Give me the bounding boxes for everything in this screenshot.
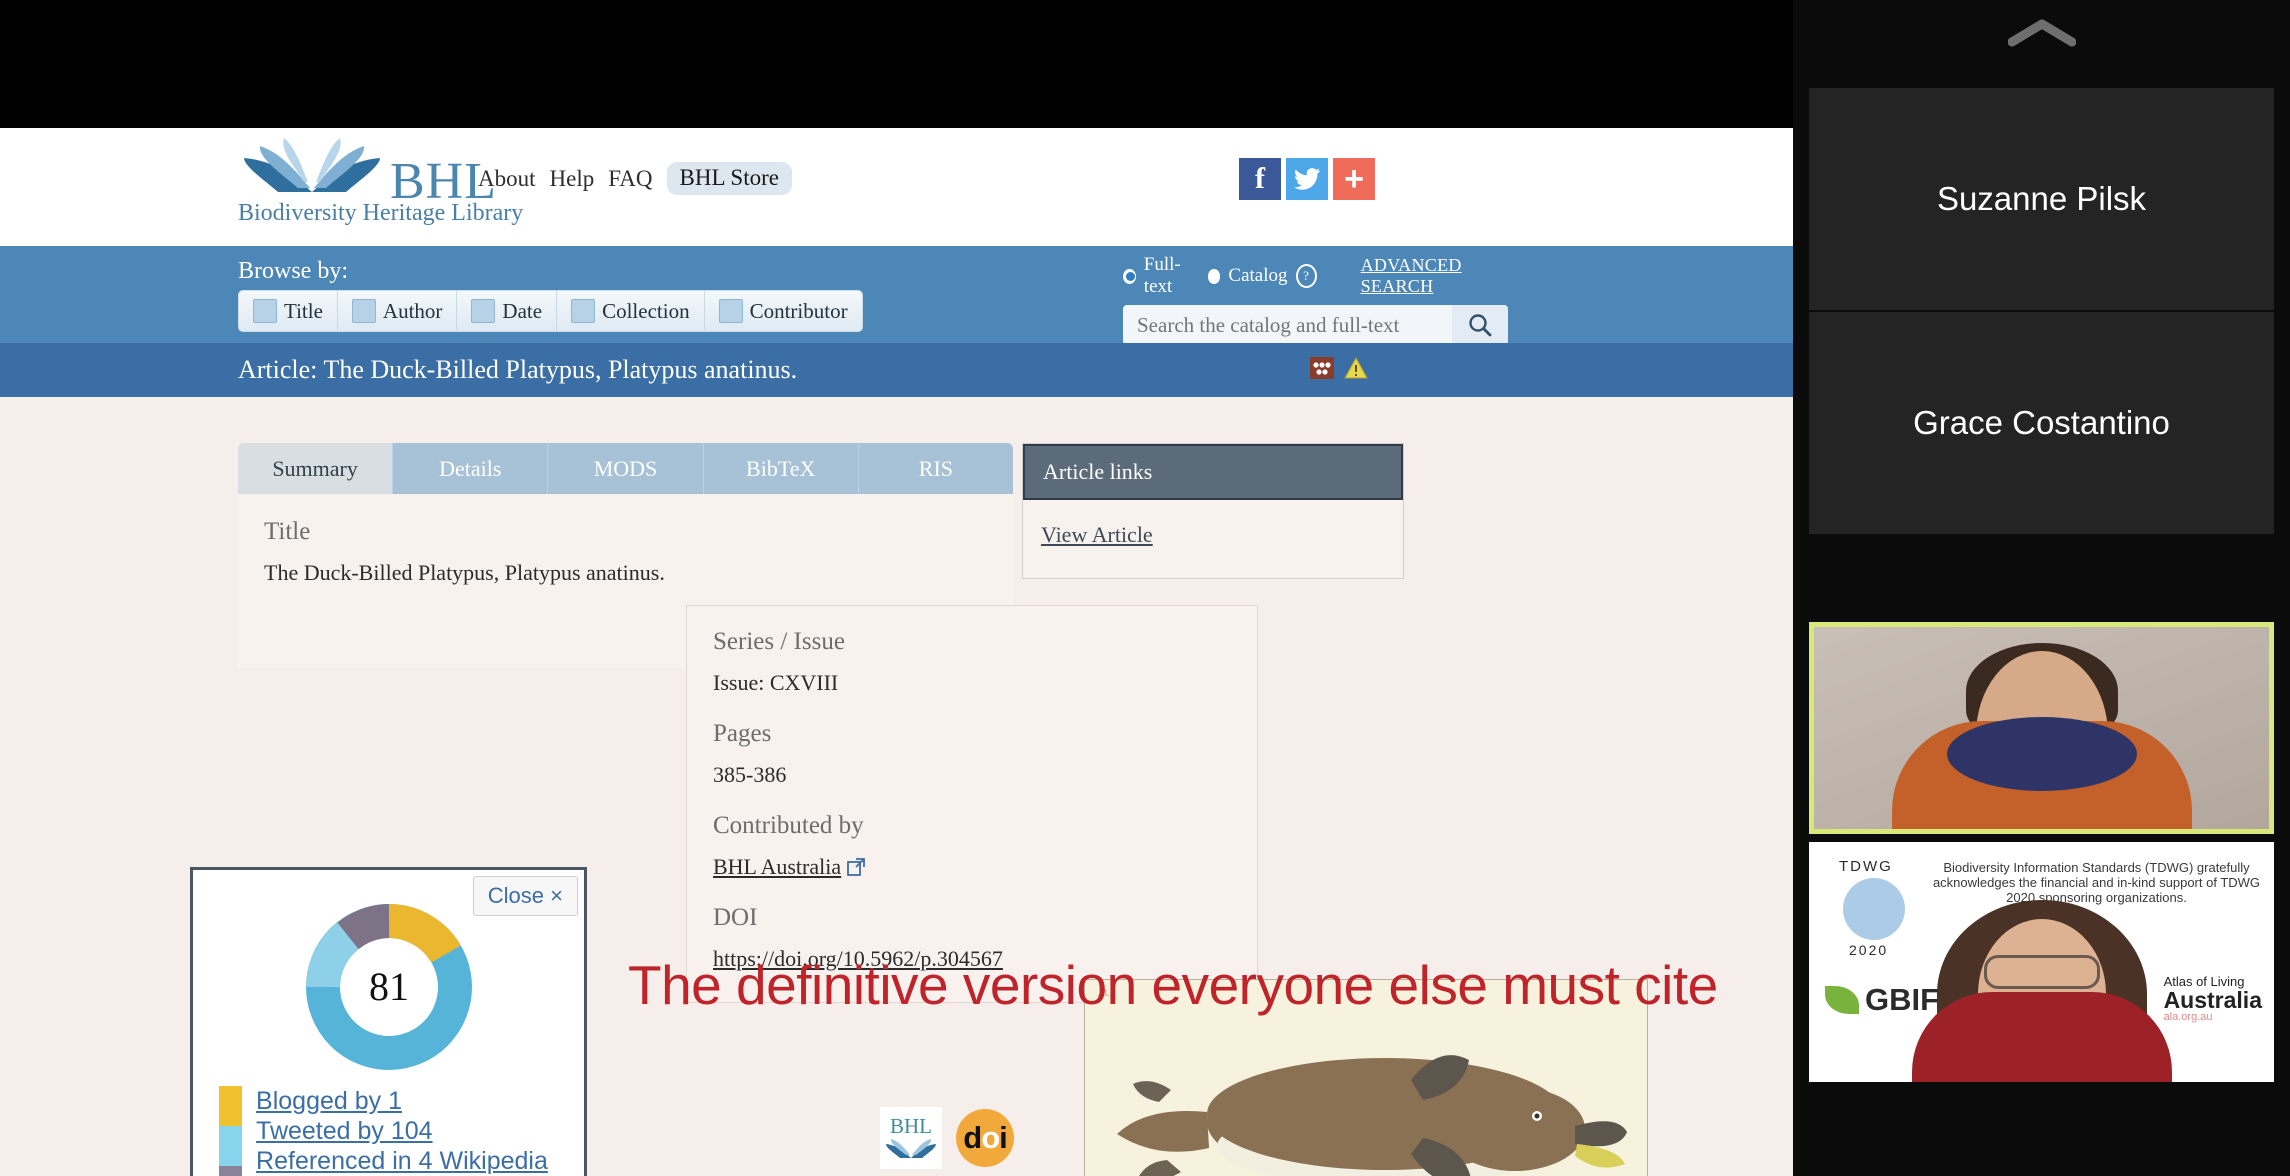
view-article-link[interactable]: View Article <box>1041 522 1153 547</box>
participant-tile-grace-costantino[interactable]: Grace Costantino <box>1809 312 2274 534</box>
browse-button-title[interactable]: Title <box>239 291 338 331</box>
tab-mods[interactable]: MODS <box>548 443 703 494</box>
field-label-title: Title <box>264 518 987 546</box>
tab-ris[interactable]: RIS <box>859 443 1013 494</box>
glasses-icon <box>1984 955 2100 989</box>
bhl-badge-text: BHL <box>890 1116 932 1136</box>
participant-name: Suzanne Pilsk <box>1809 180 2274 218</box>
slide-annotation-text: The definitive version everyone else mus… <box>628 953 1718 1017</box>
participant-tile-suzanne-pilsk[interactable]: Suzanne Pilsk <box>1809 88 2274 310</box>
shared-screen-area: BHL Biodiversity Heritage Library About … <box>0 0 1793 1176</box>
details-column: Series / Issue Issue: CXVIII Pages 385-3… <box>686 605 1258 1003</box>
nav-faq[interactable]: FAQ <box>608 166 652 192</box>
tab-summary[interactable]: Summary <box>238 443 393 494</box>
search-box <box>1123 305 1508 345</box>
article-title: Article: The Duck-Billed Platypus, Platy… <box>238 355 797 385</box>
participant-name: Grace Costantino <box>1809 404 2274 442</box>
brand-full-name: Biodiversity Heritage Library <box>238 200 523 227</box>
browse-by-label: Browse by: <box>238 258 348 285</box>
doi-badge-icon: doi <box>956 1109 1014 1167</box>
article-links-card: Article links View Article <box>1022 443 1404 579</box>
screen: BHL Biodiversity Heritage Library About … <box>0 0 2290 1176</box>
article-title-bar: Article: The Duck-Billed Platypus, Platy… <box>0 343 1793 397</box>
legend-swatches <box>219 1086 242 1176</box>
legend-link-blogged[interactable]: Blogged by 1 <box>256 1086 558 1116</box>
site-header: BHL Biodiversity Heritage Library About … <box>0 128 1793 246</box>
radio-catalog[interactable] <box>1208 269 1221 284</box>
browse-label-date: Date <box>502 299 542 324</box>
altmetric-popup: Close × 81 <box>190 867 587 1176</box>
altmetric-legend: Blogged by 1 Tweeted by 104 Referenced i… <box>193 1086 584 1176</box>
browse-button-collection[interactable]: Collection <box>557 291 705 331</box>
addthis-icon[interactable]: + <box>1333 158 1375 200</box>
participant-tile-virtual-background[interactable]: TDWG 2020 Biodiversity Information Stand… <box>1809 842 2274 1082</box>
nav-help[interactable]: Help <box>550 166 595 192</box>
participant-tile-active-speaker[interactable] <box>1809 622 2274 834</box>
radio-label-full-text: Full-text <box>1144 254 1200 298</box>
search-input[interactable] <box>1123 312 1452 339</box>
video-feed <box>1814 627 2269 829</box>
field-label-series: Series / Issue <box>713 628 1231 656</box>
ala-name: Australia <box>2164 989 2262 1011</box>
building-icon <box>719 299 743 323</box>
browse-label-author: Author <box>383 299 443 324</box>
legend-link-wikipedia[interactable]: Referenced in 4 Wikipedia pages <box>256 1146 558 1176</box>
swatch-tweeted <box>219 1126 242 1166</box>
sponsor-acknowledgement: Biodiversity Information Standards (TDWG… <box>1929 860 2264 905</box>
search-zone: Full-text Catalog ? ADVANCED SEARCH <box>1123 254 1513 345</box>
altmetric-donut[interactable]: 81 <box>193 902 584 1072</box>
search-options: Full-text Catalog ? ADVANCED SEARCH <box>1123 254 1513 298</box>
help-icon[interactable]: ? <box>1296 264 1317 288</box>
calendar-icon <box>471 299 495 323</box>
tdwg-wordmark: TDWG <box>1839 858 1893 875</box>
swatch-blogged <box>219 1086 242 1126</box>
legend-links: Blogged by 1 Tweeted by 104 Referenced i… <box>256 1086 558 1176</box>
browse-button-date[interactable]: Date <box>457 291 557 331</box>
swatch-wikipedia <box>219 1166 242 1176</box>
field-label-pages: Pages <box>713 720 1231 748</box>
bhl-store-button[interactable]: BHL Store <box>667 162 792 195</box>
browse-button-contributor[interactable]: Contributor <box>705 291 862 331</box>
field-value-title: The Duck-Billed Platypus, Platypus anati… <box>264 560 987 586</box>
browse-bar: Browse by: Title Author Date <box>0 246 1793 343</box>
facebook-icon[interactable]: f <box>1239 158 1281 200</box>
radio-full-text[interactable] <box>1123 269 1136 284</box>
open-book-logo-icon <box>238 136 386 200</box>
book-icon <box>253 299 277 323</box>
close-icon: × <box>550 883 563 908</box>
chevron-up-icon[interactable] <box>2008 18 2076 53</box>
browse-label-contributor: Contributor <box>750 299 848 324</box>
browse-label-title: Title <box>284 299 323 324</box>
participant-torso <box>1912 992 2172 1082</box>
video-feed: TDWG 2020 Biodiversity Information Stand… <box>1809 842 2274 1082</box>
collection-icon <box>571 299 595 323</box>
close-button[interactable]: Close × <box>473 876 578 916</box>
radio-label-catalog: Catalog <box>1228 265 1287 287</box>
browse-buttons: Title Author Date Collection <box>238 290 863 332</box>
altmetric-score: 81 <box>369 964 409 1009</box>
bhl-badge-icon: BHL <box>880 1107 942 1169</box>
source-badges: BHL doi <box>880 1107 1014 1169</box>
legend-link-tweeted[interactable]: Tweeted by 104 <box>256 1116 558 1146</box>
search-icon[interactable] <box>1452 305 1508 345</box>
external-link-icon <box>847 854 865 879</box>
record-body: Summary Details MODS BibTeX RIS Title Th… <box>0 397 1793 1176</box>
advanced-search-link[interactable]: ADVANCED SEARCH <box>1361 255 1513 297</box>
gbif-leaf-icon <box>1825 986 1859 1014</box>
gbif-logo: GBIF <box>1865 982 1939 1018</box>
nav-about[interactable]: About <box>478 166 536 192</box>
person-icon <box>352 299 376 323</box>
field-value-pages: 385-386 <box>713 762 1231 788</box>
speaker-scarf <box>1947 717 2137 791</box>
article-links-body: View Article <box>1023 500 1403 578</box>
ala-logo: Atlas of Living Australia ala.org.au <box>2164 974 2262 1023</box>
browse-button-author[interactable]: Author <box>338 291 458 331</box>
globe-icon <box>1843 878 1905 940</box>
close-label: Close <box>488 883 544 908</box>
field-label-doi: DOI <box>713 904 1231 932</box>
header-nav: About Help FAQ BHL Store <box>478 162 792 195</box>
tab-details[interactable]: Details <box>393 443 548 494</box>
site-logo[interactable]: BHL <box>238 136 497 210</box>
warning-icon[interactable] <box>1344 357 1368 384</box>
shared-browser-content: BHL Biodiversity Heritage Library About … <box>0 128 1793 1176</box>
participant-rail: Suzanne Pilsk Grace Costantino TDWG 2020… <box>1793 0 2290 1176</box>
flickr-icon[interactable] <box>1310 357 1334 384</box>
browse-label-collection: Collection <box>602 299 690 324</box>
contributor-link[interactable]: BHL Australia <box>713 854 841 879</box>
article-links-header: Article links <box>1023 444 1403 500</box>
record-tabs: Summary Details MODS BibTeX RIS <box>238 443 1013 494</box>
twitter-icon[interactable] <box>1286 158 1328 200</box>
field-label-contributed-by: Contributed by <box>713 812 1231 840</box>
tdwg-year: 2020 <box>1849 942 1888 958</box>
article-bar-icons <box>1310 357 1368 384</box>
field-value-series: Issue: CXVIII <box>713 670 1231 696</box>
tab-bibtex[interactable]: BibTeX <box>704 443 859 494</box>
social-share-buttons: f + <box>1239 158 1375 200</box>
